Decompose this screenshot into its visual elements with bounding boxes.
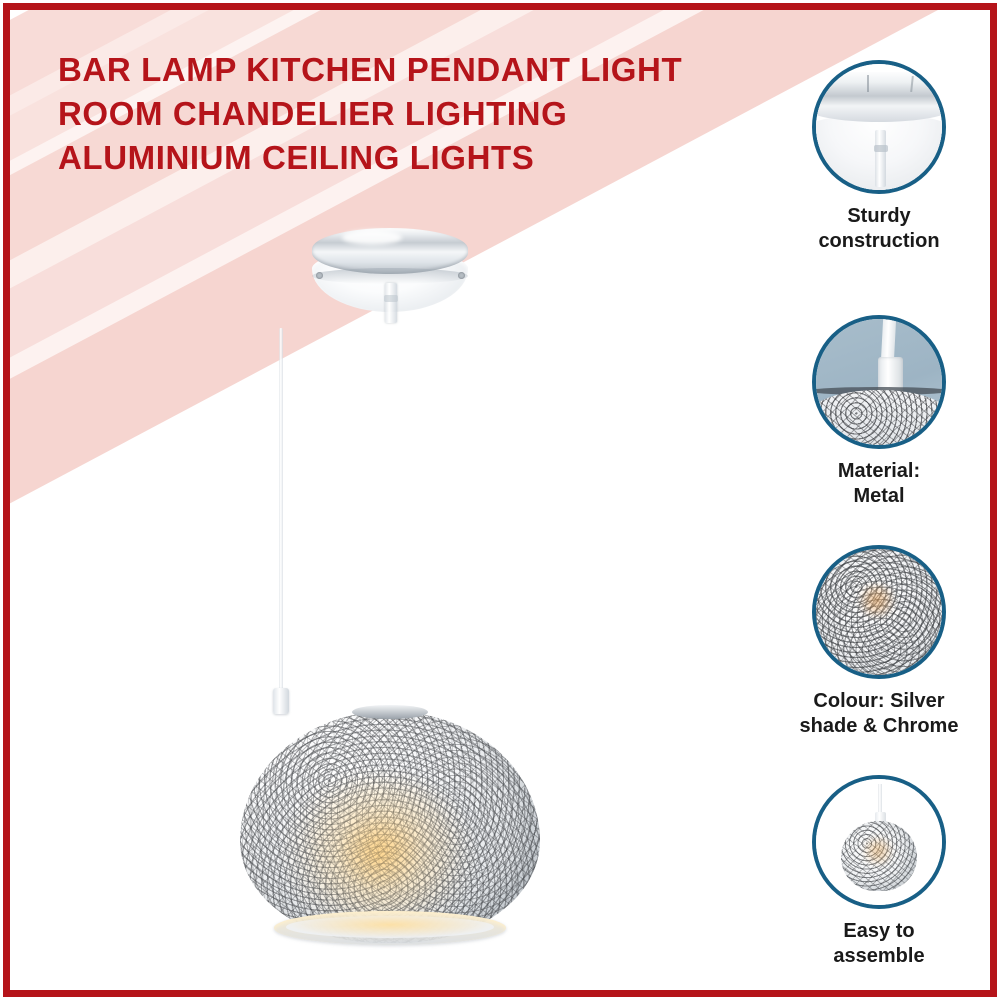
title-line-1: BAR LAMP KITCHEN PENDANT LIGHT (58, 48, 758, 92)
canopy-seam (867, 75, 869, 92)
feature-label-line-1: Colour: Silver (770, 689, 988, 714)
silver-mesh-glow (854, 584, 899, 617)
lamp-shade (240, 705, 540, 955)
feature-material-metal: Material: Metal (770, 315, 988, 509)
suspension-cord (279, 328, 283, 698)
page-title: BAR LAMP KITCHEN PENDANT LIGHT ROOM CHAN… (58, 48, 758, 180)
canopy-edge-shadow (312, 268, 468, 284)
feature-label-line-1: Material: (770, 459, 988, 484)
shade-rim-inner-glow (286, 916, 494, 938)
feature-label-sturdy-construction: Sturdy construction (770, 204, 988, 254)
feature-label-line-2: Metal (770, 484, 988, 509)
canopy-highlight (342, 230, 402, 245)
feature-colour-silver-chrome: Colour: Silver shade & Chrome (770, 545, 988, 739)
feature-label-line-2: construction (770, 229, 988, 254)
feature-label-easy-to-assemble: Easy to assemble (770, 919, 988, 969)
full-lamp-glow (859, 837, 897, 865)
feature-label-line-1: Sturdy (770, 204, 988, 229)
bulb-glow (294, 781, 468, 916)
feature-label-colour-silver-chrome: Colour: Silver shade & Chrome (770, 689, 988, 739)
canopy-closeup-stem (875, 130, 886, 188)
feature-image-colour-silver-chrome (812, 545, 946, 679)
canopy-screw-right (458, 272, 465, 279)
canopy-closeup-stem-ring (874, 145, 888, 152)
feature-callout-column: Sturdy construction Material: Metal (770, 10, 988, 990)
feature-image-easy-to-assemble (812, 775, 946, 909)
product-listing-image: BAR LAMP KITCHEN PENDANT LIGHT ROOM CHAN… (0, 0, 1000, 1000)
ceiling-canopy (300, 228, 480, 338)
feature-image-sturdy-construction (812, 60, 946, 194)
title-line-3: ALUMINIUM CEILING LIGHTS (58, 136, 758, 180)
canopy-seam (910, 76, 914, 92)
feature-image-material-metal (812, 315, 946, 449)
cable-connector (385, 283, 397, 323)
canopy-screw-left (316, 272, 323, 279)
feature-label-line-2: shade & Chrome (770, 714, 988, 739)
shade-dome (240, 711, 540, 943)
feature-label-line-1: Easy to (770, 919, 988, 944)
feature-label-line-2: assemble (770, 944, 988, 969)
title-line-2: ROOM CHANDELIER LIGHTING (58, 92, 758, 136)
feature-sturdy-construction: Sturdy construction (770, 60, 988, 254)
product-hero-image (190, 200, 610, 980)
canopy-closeup-band (812, 72, 946, 122)
feature-label-material-metal: Material: Metal (770, 459, 988, 509)
metal-closeup-mesh (812, 390, 946, 449)
shade-collar (352, 705, 428, 719)
feature-easy-to-assemble: Easy to assemble (770, 775, 988, 969)
